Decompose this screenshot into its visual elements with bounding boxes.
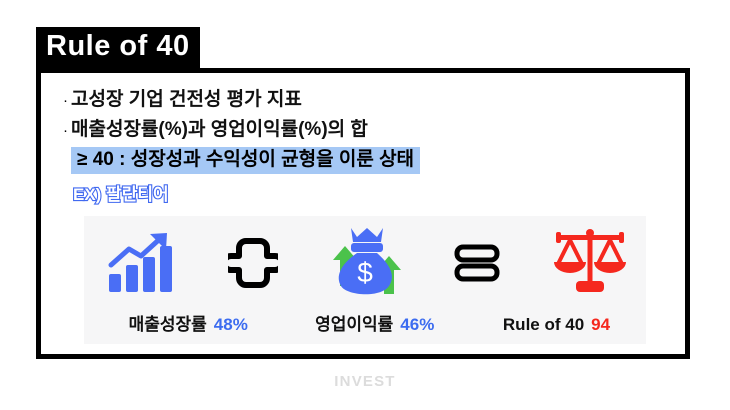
- bullet-item: · 매출성장률(%)과 영업이익률(%)의 합: [63, 120, 368, 139]
- footer-wordmark: INVEST: [0, 373, 730, 390]
- stat-operating-margin: 영업이익률 46%: [282, 316, 467, 333]
- balance-scale-icon: [544, 220, 636, 306]
- bullet-text: 매출성장률(%)과 영업이익률(%)의 합: [71, 120, 368, 139]
- page-title: Rule of 40: [36, 27, 200, 68]
- bullet-marker-icon: ·: [63, 123, 68, 138]
- plus-sign-icon: [207, 220, 299, 306]
- stat-label: Rule of 40: [503, 316, 584, 333]
- stat-label: 매출성장률: [129, 316, 207, 333]
- stat-revenue-growth: 매출성장률 48%: [94, 316, 282, 333]
- stat-rule-of-40: Rule of 40 94: [467, 316, 646, 333]
- bullet-marker-icon: ·: [63, 93, 68, 108]
- svg-text:$: $: [357, 257, 373, 288]
- stat-value: 48%: [214, 316, 248, 333]
- stat-label: 영업이익률: [315, 316, 393, 333]
- example-label: EX) 팔란티어: [73, 186, 169, 203]
- bullet-item: · 고성장 기업 건전성 평가 지표: [63, 90, 302, 109]
- formula-icon-row: $: [84, 220, 646, 306]
- stat-value: 94: [591, 316, 610, 333]
- criteria-highlight-text: ≥ 40 : 성장성과 수익성이 균형을 이룬 상태: [71, 147, 420, 174]
- money-bag-icon: $: [319, 220, 411, 306]
- formula-panel: $: [84, 216, 646, 344]
- growth-bar-chart-icon: [94, 220, 186, 306]
- stat-value: 46%: [400, 316, 434, 333]
- stats-row: 매출성장률 48% 영업이익률 46% Rule of 40 94: [84, 308, 646, 340]
- bullet-text: 고성장 기업 건전성 평가 지표: [71, 90, 302, 109]
- equals-sign-icon: [431, 220, 523, 306]
- content-card: · 고성장 기업 건전성 평가 지표 · 매출성장률(%)과 영업이익률(%)의…: [36, 68, 690, 359]
